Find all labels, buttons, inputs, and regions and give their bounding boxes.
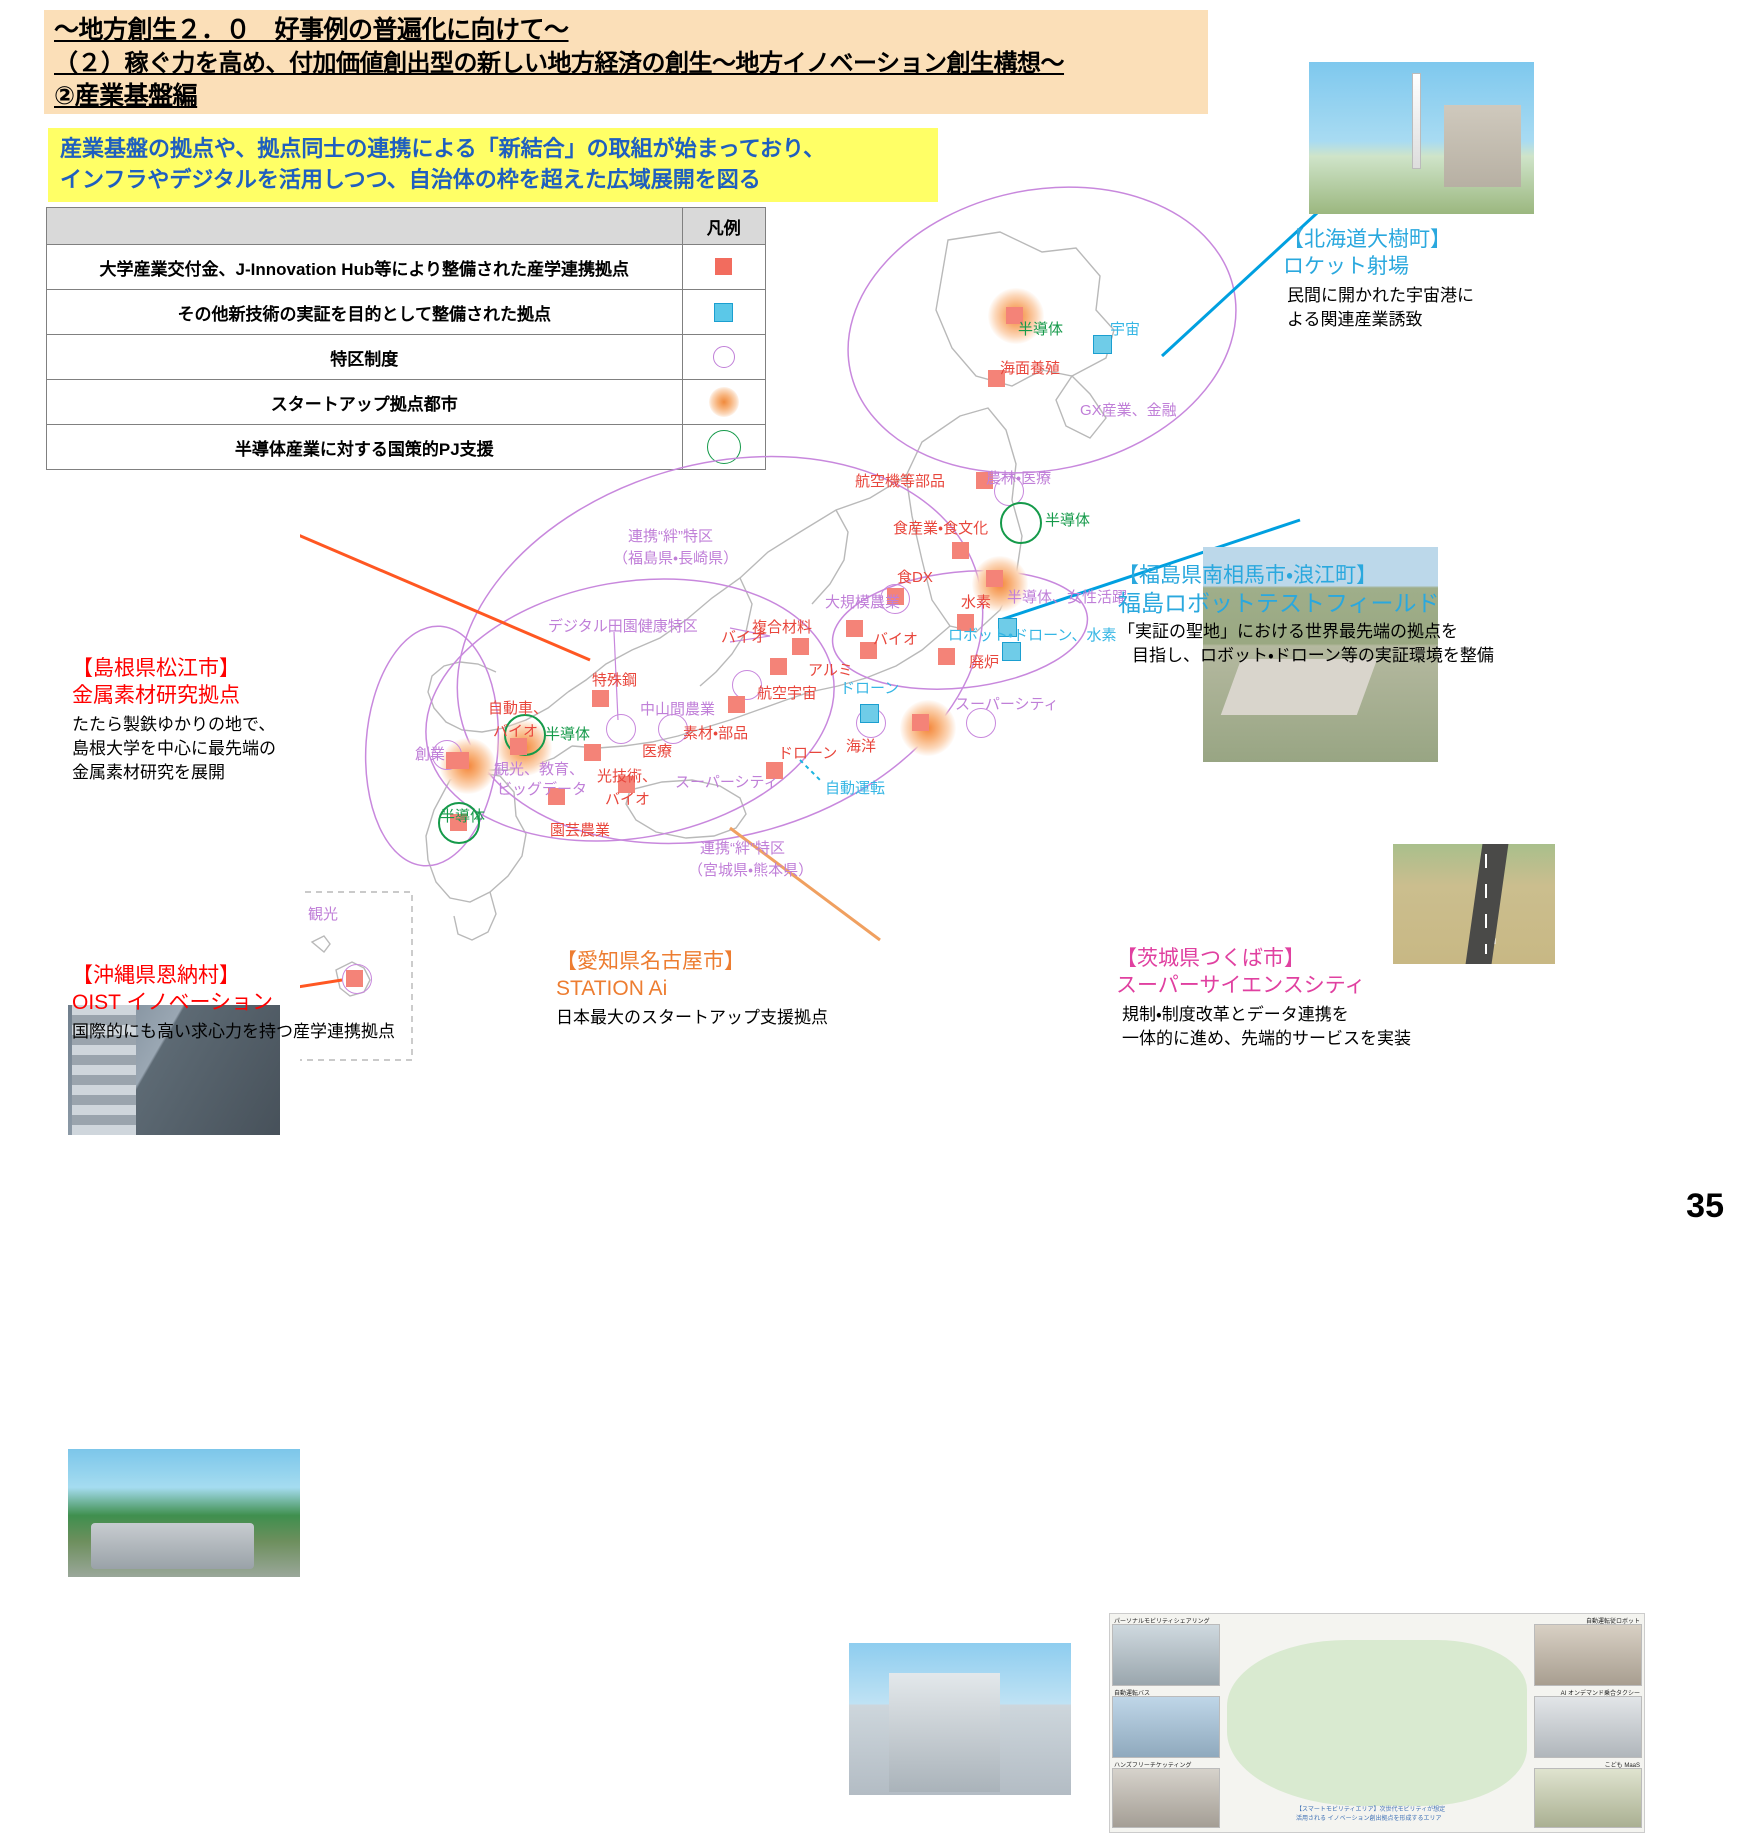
callout-shimane-subtitle: 金属素材研究拠点 bbox=[72, 682, 276, 710]
callout-hokkaido-subtitle: ロケット射場 bbox=[1283, 253, 1474, 281]
map-marker-red-koukuuuchu bbox=[728, 696, 745, 713]
map-label-37: バイオ bbox=[605, 791, 650, 808]
map-label-3: GX産業、金融 bbox=[1080, 402, 1177, 419]
map-label-17: アルミ bbox=[808, 662, 853, 679]
callout-tsukuba-desc-1: 規制・制度改革とデータ連携を bbox=[1122, 1003, 1411, 1027]
tsukuba-tile-2 bbox=[1112, 1696, 1220, 1758]
tsukuba-tile-0 bbox=[1112, 1624, 1220, 1686]
map-label-36: 光技術、 bbox=[597, 768, 657, 785]
tsukuba-tile-5 bbox=[1534, 1768, 1642, 1828]
japan-outline bbox=[312, 232, 1114, 996]
slide-title-band: ～地方創生２．０ 好事例の普遍化に向けて～ （２）稼ぐ力を高め、付加価値創出型の… bbox=[44, 10, 1208, 114]
map-label-7: 半導体 bbox=[1045, 512, 1090, 529]
callout-nagoya-desc-1: 日本最大のスタートアップ支援拠点 bbox=[556, 1006, 828, 1030]
map-label-30: 海洋 bbox=[846, 738, 876, 755]
callout-tsukuba-desc-2: 一体的に進め、先端的サービスを実装 bbox=[1122, 1027, 1411, 1051]
photo-tsukuba-supersciencecity: パーソナルモビリティシェアリング 自動運転従ロボット 自動運転バス AI オンデ… bbox=[1109, 1613, 1645, 1833]
callout-hokkaido-title: 【北海道大樹町】 bbox=[1283, 226, 1474, 253]
callout-fukushima-desc-2: 目指し、ロボット・ドローン等の実証環境を整備 bbox=[1132, 644, 1494, 668]
map-label-25: スーパーシティ bbox=[955, 696, 1059, 713]
callout-fukushima-title: 【福島県南相馬市・浪江町】 bbox=[1118, 562, 1494, 589]
map-label-28: 素材・部品 bbox=[683, 725, 748, 742]
map-label-31: 半導体 bbox=[545, 726, 590, 743]
map-label-8: 食DX bbox=[897, 569, 933, 586]
map-label-11: 大規模農業 bbox=[825, 594, 900, 611]
map-marker-red-bio-chubu bbox=[846, 620, 863, 637]
tsukuba-inner-note: 【スマートモビリティエリア】次世代モビリティが想定活用される イノベーション創出… bbox=[1296, 1804, 1446, 1822]
callout-shimane-desc-1: たたら製鉄ゆかりの地で、 bbox=[72, 713, 276, 737]
callout-tsukuba: 【茨城県つくば市】 スーパーサイエンスシティ 規制・制度改革とデータ連携を 一体… bbox=[1116, 945, 1411, 1051]
map-label-5: 農林・医療 bbox=[986, 470, 1051, 487]
title-line-1: ～地方創生２．０ 好事例の普遍化に向けて～ bbox=[54, 14, 1198, 47]
map-label-27: バイオ bbox=[493, 723, 538, 740]
map-label-10: 半導体、女性活躍 bbox=[1007, 589, 1127, 606]
map-label-0: 半導体 bbox=[1018, 321, 1063, 338]
callout-nagoya: 【愛知県名古屋市】 STATION Ai 日本最大のスタートアップ支援拠点 bbox=[556, 948, 828, 1030]
callout-nagoya-subtitle: STATION Ai bbox=[556, 975, 828, 1003]
map-label-20: デジタル田園健康特区 bbox=[548, 618, 698, 635]
map-marker-red-tokushukou bbox=[592, 690, 609, 707]
slide-root: ～地方創生２．０ 好事例の普遍化に向けて～ （２）稼ぐ力を高め、付加価値創出型の… bbox=[0, 0, 1754, 1240]
tsukuba-tile-label-1: 自動運転従ロボット bbox=[1586, 1616, 1640, 1625]
callout-fukushima-desc-1: 「実証の聖地」における世界最先端の拠点を bbox=[1118, 620, 1494, 644]
map-label-26: 自動車、 bbox=[488, 700, 548, 717]
callout-shimane-desc-2: 島根大学を中心に最先端の bbox=[72, 737, 276, 761]
map-label-38: スーパーシティ bbox=[675, 774, 779, 791]
callout-shimane-title: 【島根県松江市】 bbox=[72, 655, 276, 682]
photo-okinawa-oist bbox=[68, 1449, 300, 1577]
map-label-18: 連携“絆”特区 bbox=[628, 528, 713, 545]
map-label-32: 医療 bbox=[642, 743, 672, 760]
tsukuba-tile-label-3: AI オンデマンド乗合タクシー bbox=[1561, 1688, 1640, 1697]
map-marker-cyan-hairo bbox=[1002, 642, 1021, 661]
tsukuba-tile-4 bbox=[1112, 1768, 1220, 1828]
runway-number-label: 27 bbox=[1483, 930, 1498, 944]
map-marker-red-sendai bbox=[986, 570, 1003, 587]
callout-shimane: 【島根県松江市】 金属素材研究拠点 たたら製鉄ゆかりの地で、 島根大学を中心に最… bbox=[72, 655, 276, 785]
map-label-14: バイオ bbox=[873, 631, 918, 648]
map-label-4: 航空機等部品 bbox=[855, 473, 945, 490]
tsukuba-tile-label-0: パーソナルモビリティシェアリング bbox=[1114, 1616, 1210, 1625]
map-label-44: 観光 bbox=[308, 906, 338, 923]
callout-tsukuba-subtitle: スーパーサイエンスシティ bbox=[1116, 972, 1411, 1000]
map-label-19: （福島県・長崎県） bbox=[613, 550, 738, 567]
map-marker-green-tohoku bbox=[1000, 502, 1042, 544]
map-marker-ring-chusankan bbox=[606, 714, 636, 744]
callout-fukushima: 【福島県南相馬市・浪江町】 福島ロボットテストフィールド 「実証の聖地」における… bbox=[1118, 562, 1494, 668]
map-label-21: 特殊鋼 bbox=[592, 672, 637, 689]
map-label-9: 水素 bbox=[961, 594, 991, 611]
page-number: 35 bbox=[1686, 1187, 1724, 1226]
map-label-42: 連携“絆”特区 bbox=[700, 840, 785, 857]
map-label-39: 自動運転 bbox=[825, 780, 885, 797]
callout-hokkaido-desc-1: 民間に開かれた宇宙港に bbox=[1287, 284, 1474, 308]
photo-fukushima-runway: 27 bbox=[1393, 844, 1555, 964]
map-marker-red-shokusangyo bbox=[952, 542, 969, 559]
map-marker-red-tokyo bbox=[912, 714, 929, 731]
map-label-13: ロボット・ドローン、水素 bbox=[948, 627, 1116, 644]
map-marker-red-hiroshima bbox=[510, 738, 527, 755]
callout-okinawa-subtitle: OIST イノベーション bbox=[72, 989, 395, 1017]
map-marker-red-hikari bbox=[584, 744, 601, 761]
map-label-35: ビッグデータ bbox=[497, 781, 587, 798]
map-label-6: 食産業・食文化 bbox=[893, 520, 988, 537]
callout-tsukuba-title: 【茨城県つくば市】 bbox=[1116, 945, 1411, 972]
photo-nagoya-stationai bbox=[849, 1643, 1071, 1795]
map-label-23: 航空宇宙 bbox=[757, 685, 817, 702]
map-label-16: 廃炉 bbox=[969, 654, 999, 671]
tsukuba-map-graphic bbox=[1227, 1640, 1526, 1806]
map-label-34: 観光、教育、 bbox=[494, 761, 584, 778]
callout-shimane-desc-3: 金属素材研究を展開 bbox=[72, 761, 276, 785]
tsukuba-tile-3 bbox=[1534, 1696, 1642, 1758]
map-label-24: ドローン bbox=[840, 680, 899, 697]
callout-okinawa: 【沖縄県恩納村】 OIST イノベーション 国際的にも高い求心力を持つ産学連携拠… bbox=[72, 962, 395, 1044]
callout-okinawa-desc-1: 国際的にも高い求心力を持つ産学連携拠点 bbox=[72, 1020, 395, 1044]
map-marker-red-kanto bbox=[938, 648, 955, 665]
map-label-15: バイオ bbox=[721, 629, 766, 646]
title-line-3: ②産業基盤編 bbox=[54, 80, 1198, 113]
callout-fukushima-subtitle: 福島ロボットテストフィールド bbox=[1118, 589, 1494, 617]
photo-hokkaido-rocket bbox=[1309, 62, 1534, 214]
map-marker-cyan-drone bbox=[860, 704, 879, 723]
map-label-22: 中山間農業 bbox=[640, 701, 715, 718]
tsukuba-tile-1 bbox=[1534, 1624, 1642, 1686]
map-label-41: 園芸農業 bbox=[550, 822, 610, 839]
title-line-2: （２）稼ぐ力を高め、付加価値創出型の新しい地方経済の創生～地方イノベーション創生… bbox=[54, 47, 1198, 80]
callout-hokkaido-desc-2: よる関連産業誘致 bbox=[1287, 308, 1474, 332]
tsukuba-tile-label-2: 自動運転バス bbox=[1114, 1688, 1150, 1697]
map-marker-red-kyushu2 bbox=[452, 752, 469, 769]
callout-hokkaido: 【北海道大樹町】 ロケット射場 民間に開かれた宇宙港に よる関連産業誘致 bbox=[1283, 226, 1474, 332]
map-label-2: 海面養殖 bbox=[1000, 360, 1060, 377]
callout-nagoya-title: 【愛知県名古屋市】 bbox=[556, 948, 828, 975]
highlight-line-1: 産業基盤の拠点や、拠点同士の連携による「新結合」の取組が始まっており、 bbox=[60, 133, 926, 164]
map-label-40: 半導体 bbox=[440, 808, 485, 825]
map-marker-red-fukugou bbox=[792, 638, 809, 655]
map-label-1: 宇宙 bbox=[1110, 321, 1140, 338]
map-label-33: 創業 bbox=[415, 746, 445, 763]
map-label-43: （宮城県・熊本県） bbox=[688, 862, 813, 879]
map-marker-red-bio-hokuriku bbox=[770, 658, 787, 675]
tsukuba-tile-label-5: こども MaaS bbox=[1605, 1760, 1640, 1769]
callout-okinawa-title: 【沖縄県恩納村】 bbox=[72, 962, 395, 989]
map-label-29: ドローン bbox=[778, 745, 837, 762]
tsukuba-tile-label-4: ハンズフリーチケッティング bbox=[1114, 1760, 1192, 1769]
special-zone-ellipses bbox=[358, 180, 1263, 903]
